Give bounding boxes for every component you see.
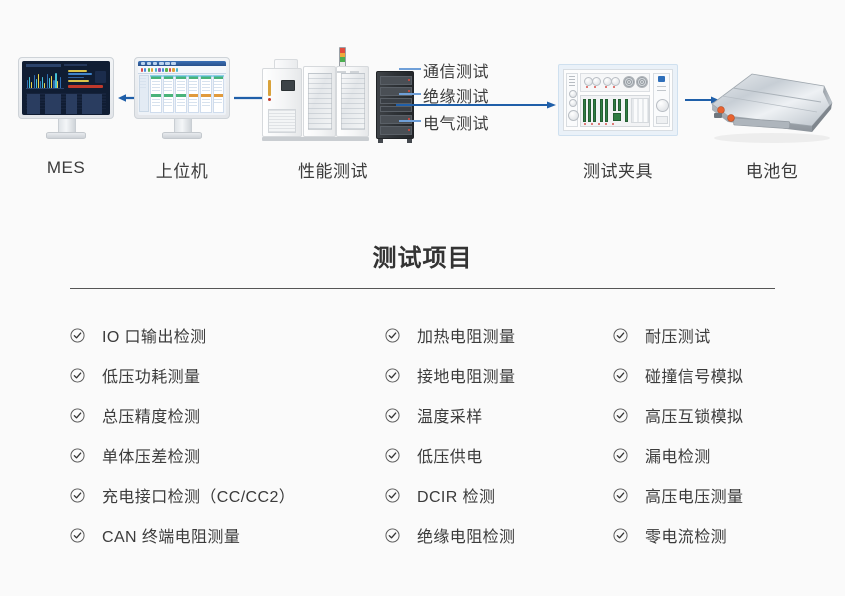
list-item[interactable]: 高压电压测量 — [613, 475, 833, 515]
list-item[interactable]: 低压供电 — [385, 435, 615, 475]
test-fixture-rack-icon — [558, 64, 678, 136]
flow-node-battery-label: 电池包 — [712, 157, 832, 182]
items-column-1: IO 口输出检测 低压功耗测量 总压精度检测 单体压差检测 充电接口检测（CC/… — [70, 315, 370, 555]
list-item[interactable]: 低压功耗测量 — [70, 355, 370, 395]
branch-dash-1 — [399, 68, 421, 70]
flow-node-host-pc-label: 上位机 — [132, 157, 232, 182]
check-circle-icon — [385, 528, 400, 543]
check-circle-icon — [385, 408, 400, 423]
check-circle-icon — [613, 368, 628, 383]
check-circle-icon — [613, 408, 628, 423]
flow-node-perf-test — [258, 35, 398, 145]
branch-label-3: 电气测试 — [423, 110, 489, 134]
list-item[interactable]: 碰撞信号模拟 — [613, 355, 833, 395]
flow-node-perf-test-label: 性能测试 — [273, 157, 393, 182]
flow-node-mes — [18, 57, 114, 142]
list-item-label: 低压功耗测量 — [102, 363, 200, 387]
process-flow-diagram: MES — [0, 0, 845, 200]
flow-node-mes-label: MES — [16, 158, 116, 178]
list-item[interactable]: 单体压差检测 — [70, 435, 370, 475]
list-item-label: CAN 终端电阻测量 — [102, 523, 240, 547]
list-item-label: 高压电压测量 — [645, 483, 743, 507]
check-circle-icon — [385, 448, 400, 463]
check-circle-icon — [70, 328, 85, 343]
flow-node-fixture — [558, 64, 678, 136]
check-circle-icon — [613, 328, 628, 343]
flow-node-battery — [700, 60, 840, 145]
check-circle-icon — [613, 528, 628, 543]
list-item[interactable]: 接地电阻测量 — [385, 355, 615, 395]
list-item[interactable]: 耐压测试 — [613, 315, 833, 355]
branch-dash-2 — [399, 93, 421, 95]
list-item-label: 接地电阻测量 — [417, 363, 515, 387]
list-item[interactable]: 总压精度检测 — [70, 395, 370, 435]
list-item-label: 绝缘电阻检测 — [417, 523, 515, 547]
list-item-label: 总压精度检测 — [102, 403, 200, 427]
list-item[interactable]: DCIR 检测 — [385, 475, 615, 515]
check-circle-icon — [70, 528, 85, 543]
check-circle-icon — [70, 488, 85, 503]
check-circle-icon — [613, 448, 628, 463]
list-item[interactable]: 充电接口检测（CC/CC2） — [70, 475, 370, 515]
flow-node-fixture-label: 测试夹具 — [558, 157, 678, 182]
list-item-label: 单体压差检测 — [102, 443, 200, 467]
list-item-label: 温度采样 — [417, 403, 483, 427]
check-circle-icon — [70, 448, 85, 463]
check-circle-icon — [385, 368, 400, 383]
flow-node-host-pc — [134, 57, 230, 142]
list-item-label: DCIR 检测 — [417, 483, 495, 507]
list-item[interactable]: 零电流检测 — [613, 515, 833, 555]
connector-perftest-fixture — [396, 100, 556, 110]
test-items-section: 测试项目 IO 口输出检测 低压功耗测量 总压精度检测 单体压差检测 充电接口检… — [0, 225, 845, 596]
list-item-label: 耐压测试 — [645, 323, 711, 347]
check-circle-icon — [385, 488, 400, 503]
check-circle-icon — [385, 328, 400, 343]
list-item[interactable]: 高压互锁模拟 — [613, 395, 833, 435]
list-item-label: 低压供电 — [417, 443, 483, 467]
check-circle-icon — [70, 368, 85, 383]
list-item-label: 碰撞信号模拟 — [645, 363, 743, 387]
list-item[interactable]: 温度采样 — [385, 395, 615, 435]
list-item[interactable]: 加热电阻测量 — [385, 315, 615, 355]
check-circle-icon — [70, 408, 85, 423]
signal-tower-icon — [339, 47, 346, 67]
items-column-2: 加热电阻测量 接地电阻测量 温度采样 低压供电 DCIR 检测 绝缘电阻检测 — [385, 315, 615, 555]
list-item-label: IO 口输出检测 — [102, 323, 207, 347]
list-item[interactable]: IO 口输出检测 — [70, 315, 370, 355]
branch-label-1: 通信测试 — [423, 58, 489, 82]
check-circle-icon — [613, 488, 628, 503]
desktop-monitor-dashboard-icon — [18, 57, 114, 142]
list-item-label: 高压互锁模拟 — [645, 403, 743, 427]
list-item-label: 充电接口检测（CC/CC2） — [102, 483, 295, 507]
list-item-label: 加热电阻测量 — [417, 323, 515, 347]
branch-dash-3 — [399, 120, 421, 122]
list-item[interactable]: CAN 终端电阻测量 — [70, 515, 370, 555]
items-column-3: 耐压测试 碰撞信号模拟 高压互锁模拟 漏电检测 高压电压测量 零电流检测 — [613, 315, 833, 555]
list-item-label: 零电流检测 — [645, 523, 727, 547]
section-divider — [70, 288, 775, 289]
list-item[interactable]: 绝缘电阻检测 — [385, 515, 615, 555]
section-title: 测试项目 — [0, 238, 845, 273]
battery-pack-icon — [700, 60, 840, 145]
list-item-label: 漏电检测 — [645, 443, 711, 467]
test-cabinet-icon — [258, 35, 398, 145]
desktop-monitor-software-icon — [134, 57, 230, 142]
list-item[interactable]: 漏电检测 — [613, 435, 833, 475]
